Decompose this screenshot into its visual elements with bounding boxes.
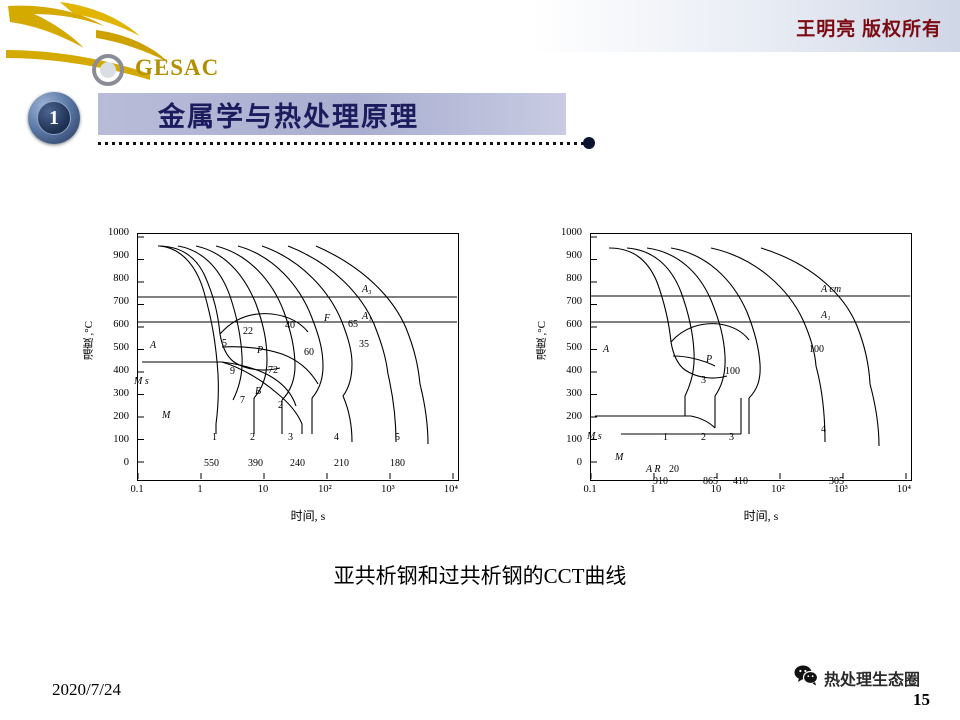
hardness-2: 390 [248, 458, 263, 469]
label-P-r: P [706, 354, 712, 365]
y-tick-400: 400 [85, 365, 129, 376]
x-tick-0-1: 0.1 [117, 484, 157, 495]
x-tick-1e4: 10⁴ [431, 484, 471, 495]
x-tick-1: 1 [180, 484, 220, 495]
label-9: 9 [230, 366, 235, 377]
x-tick-r-1e4: 10⁴ [884, 484, 924, 495]
curve-id-1: 1 [212, 432, 217, 443]
page-number: 15 [913, 690, 930, 710]
label-7: 7 [240, 395, 245, 406]
label-3-r: 3 [701, 375, 706, 386]
hardness-3: 240 [290, 458, 305, 469]
cct-chart-hypoeutectoid: 温度 ,°C 1000 900 800 700 600 500 400 300 … [75, 225, 495, 500]
x-tick-10: 10 [243, 484, 283, 495]
x-tick-1e2: 10² [305, 484, 345, 495]
curve-id-r-4: 4 [821, 424, 826, 435]
y-tick-900: 900 [85, 250, 129, 261]
y-tick-r-500: 500 [538, 342, 582, 353]
figure-caption: 亚共析钢和过共析钢的CCT曲线 [0, 560, 960, 590]
badge-number: 1 [37, 101, 71, 135]
x-tick-1e3: 10³ [368, 484, 408, 495]
y-tick-r-1000: 1000 [538, 227, 582, 238]
label-910: 910 [653, 476, 668, 487]
curve-id-r-2: 2 [701, 432, 706, 443]
curve-id-2: 2 [250, 432, 255, 443]
slide-title-bar: 金属学与热处理原理 [98, 93, 566, 135]
curve-id-4: 4 [334, 432, 339, 443]
y-tick-r-400: 400 [538, 365, 582, 376]
x-axis-label-right: 时间, s [528, 507, 948, 524]
label-65: 65 [348, 319, 358, 330]
title-dotted-rule [98, 142, 588, 145]
label-B: B [255, 386, 261, 397]
gesac-logo: GESAC [0, 0, 250, 90]
label-A1-r: A₁ [821, 310, 831, 321]
curve-id-3: 3 [288, 432, 293, 443]
y-tick-r-0: 0 [538, 457, 582, 468]
wechat-icon [794, 664, 818, 691]
curve-id-5: 5 [395, 432, 400, 443]
curve-id-r-3: 3 [729, 432, 734, 443]
label-72: 72 [268, 365, 278, 376]
label-20-r: 20 [669, 464, 679, 475]
title-rule-end-dot [583, 137, 595, 149]
charts-area: 温度 ,°C 1000 900 800 700 600 500 400 300 … [0, 225, 960, 515]
y-tick-300: 300 [85, 388, 129, 399]
copyright-text: 王明亮 版权所有 [796, 14, 942, 41]
y-tick-700: 700 [85, 296, 129, 307]
label-A-r: A [603, 344, 609, 355]
label-100-b: 100 [809, 344, 824, 355]
label-Ar: A R [646, 464, 661, 475]
hardness-1: 550 [204, 458, 219, 469]
curve-id-r-1: 1 [663, 432, 668, 443]
label-40: 40 [285, 320, 295, 331]
y-tick-200: 200 [85, 411, 129, 422]
y-tick-800: 800 [85, 273, 129, 284]
y-tick-500: 500 [85, 342, 129, 353]
label-M-r: M [615, 452, 623, 463]
label-305: 305 [829, 476, 844, 487]
slide-date: 2020/7/24 [52, 680, 121, 700]
logo-wordmark: GESAC [135, 55, 219, 81]
label-A3: A₃ [362, 284, 372, 295]
plot-area-right: A cm A₁ A P 3 100 100 M s M A R 20 910 8… [590, 233, 912, 481]
label-P: P [257, 345, 263, 356]
label-F: F [324, 313, 330, 324]
hardness-4: 210 [334, 458, 349, 469]
x-tick-r-1e2: 10² [758, 484, 798, 495]
y-tick-r-100: 100 [538, 434, 582, 445]
label-A1: A₁ [362, 311, 372, 322]
slide-number-badge: 1 [28, 92, 80, 144]
wechat-account: 热处理生态圈 [794, 664, 920, 691]
y-tick-1000: 1000 [85, 227, 129, 238]
label-5: 5 [222, 338, 227, 349]
label-410: 410 [733, 476, 748, 487]
label-100-a: 100 [725, 366, 740, 377]
x-axis-label-left: 时间, s [75, 507, 495, 524]
y-tick-r-300: 300 [538, 388, 582, 399]
y-tick-r-600: 600 [538, 319, 582, 330]
label-22: 22 [243, 326, 253, 337]
label-35: 35 [359, 339, 369, 350]
cct-chart-hypereutectoid: 温度 ,°C 1000 900 800 700 600 500 400 300 … [528, 225, 948, 500]
label-Ms-r: M s [587, 431, 602, 442]
label-A: A [150, 340, 156, 351]
y-tick-r-900: 900 [538, 250, 582, 261]
label-60: 60 [304, 347, 314, 358]
y-tick-r-800: 800 [538, 273, 582, 284]
y-tick-100: 100 [85, 434, 129, 445]
y-tick-r-200: 200 [538, 411, 582, 422]
hardness-5: 180 [390, 458, 405, 469]
page-title: 金属学与热处理原理 [158, 95, 419, 134]
wechat-label: 热处理生态圈 [824, 666, 920, 690]
plot-area-left: A₃ A₁ A F P B M M s 22 40 65 35 60 5 9 7… [137, 233, 459, 481]
y-tick-600: 600 [85, 319, 129, 330]
label-865: 865 [703, 476, 718, 487]
label-2b: 2 [278, 400, 283, 411]
label-Acm: A cm [821, 284, 841, 295]
label-Ms: M s [134, 376, 149, 387]
label-M: M [162, 410, 170, 421]
x-tick-r-0-1: 0.1 [570, 484, 610, 495]
y-tick-0: 0 [85, 457, 129, 468]
y-tick-r-700: 700 [538, 296, 582, 307]
